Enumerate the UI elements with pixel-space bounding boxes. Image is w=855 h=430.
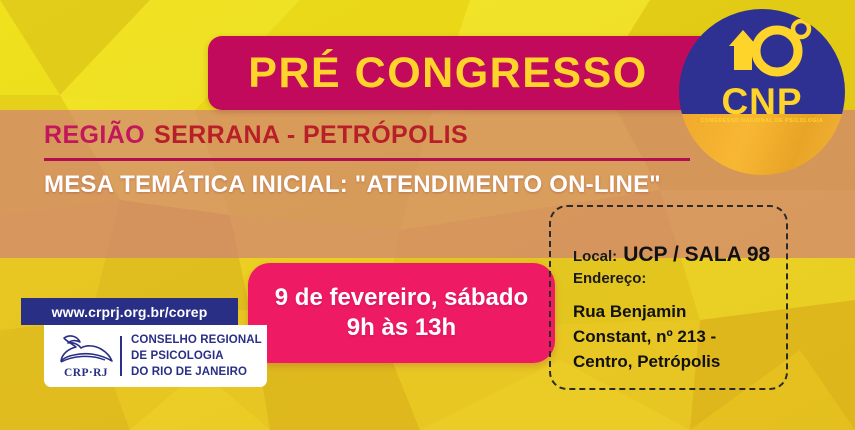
crp-abbreviation: CRP·RJ (56, 367, 116, 379)
time-line: 9h às 13h (347, 313, 456, 343)
address-line-1: Rua Benjamin (573, 299, 786, 324)
crp-divider (120, 336, 122, 376)
date-line: 9 de fevereiro, sábado (275, 283, 528, 313)
local-value: UCP / SALA 98 (623, 243, 770, 267)
crp-full-name: CONSELHO REGIONAL DE PSICOLOGIA DO RIO D… (131, 332, 262, 381)
address-lines: Rua Benjamin Constant, nº 213 - Centro, … (573, 299, 786, 374)
crp-bird-icon: CRP·RJ (56, 333, 116, 379)
address-card: Local: UCP / SALA 98 Endereço: Rua Benja… (549, 205, 788, 390)
region-line: REGIÃO SERRANA - PETRÓPOLIS (44, 118, 468, 152)
website-url-text: www.crprj.org.br/corep (52, 304, 208, 320)
address-line-2: Constant, nº 213 - (573, 324, 786, 349)
website-url-bar[interactable]: www.crprj.org.br/corep (21, 298, 238, 325)
cnp-abbreviation: CNP (679, 83, 845, 120)
crp-name-line-1: CONSELHO REGIONAL (131, 332, 262, 348)
date-card: 9 de fevereiro, sábado 9h às 13h (248, 263, 555, 363)
promotional-banner: PRÉ CONGRESSO REGIÃO SERRANA - PETRÓPOLI… (0, 0, 855, 430)
crp-name-line-3: DO RIO DE JANEIRO (131, 364, 262, 380)
page-title: PRÉ CONGRESSO (228, 44, 668, 102)
crp-rj-logo-card: CRP·RJ CONSELHO REGIONAL DE PSICOLOGIA D… (44, 325, 267, 387)
cnp-logo: CNP CONGRESSO NACIONAL DE PSICOLOGIA (679, 9, 845, 175)
cnp-ten-degree-icon (679, 18, 845, 87)
endereco-label: Endereço: (573, 270, 786, 287)
cnp-subtitle: CONGRESSO NACIONAL DE PSICOLOGIA (679, 118, 845, 124)
horizontal-rule (44, 158, 690, 161)
address-line-3: Centro, Petrópolis (573, 349, 786, 374)
topic-label: MESA TEMÁTICA INICIAL: "ATENDIMENTO ON-L… (44, 168, 661, 202)
local-label: Local: (573, 248, 617, 265)
local-row: Local: UCP / SALA 98 (573, 243, 786, 267)
region-secondary-label: SERRANA - PETRÓPOLIS (154, 121, 468, 150)
region-primary-label: REGIÃO (44, 121, 145, 150)
crp-name-line-2: DE PSICOLOGIA (131, 348, 262, 364)
